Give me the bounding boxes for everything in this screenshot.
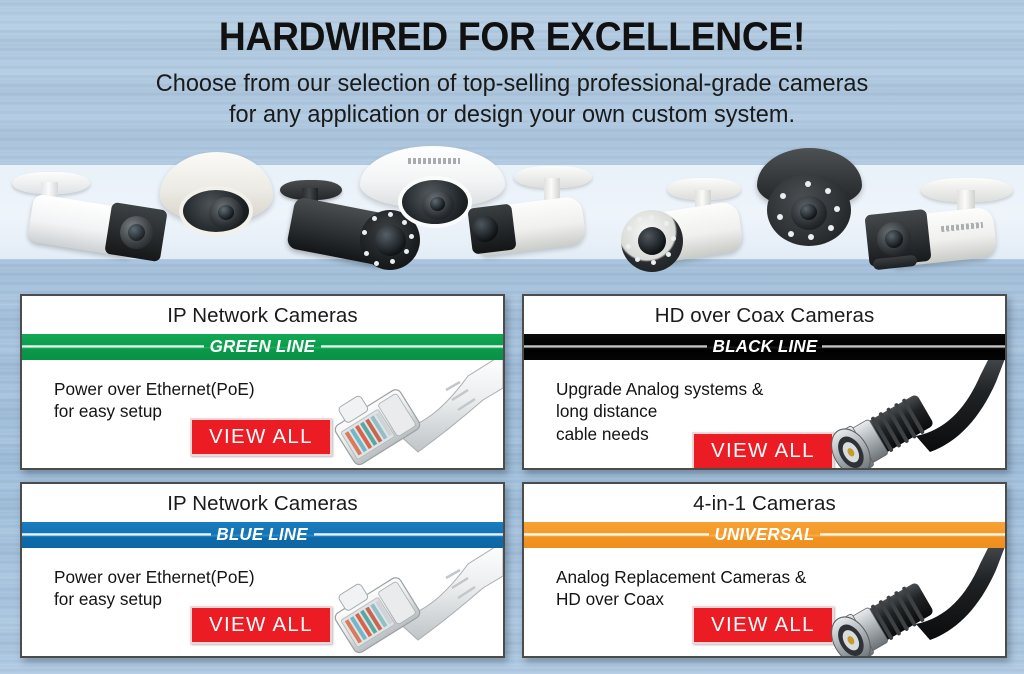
camera-ir-led — [788, 231, 794, 237]
camera-lens-glass — [885, 230, 903, 248]
camera-lens-glass — [800, 204, 817, 220]
card-title: HD over Coax Cameras — [524, 296, 1005, 334]
page-subheadline: Choose from our selection of top-selling… — [20, 58, 1003, 131]
bnc-coax-connector-icon — [820, 548, 1005, 658]
band-label: UNIVERSAL — [711, 524, 819, 545]
camera-ir-led — [780, 193, 786, 199]
camera-ir-led — [626, 244, 631, 249]
band-rule-left — [524, 345, 707, 348]
camera-ir-led — [666, 252, 671, 257]
page-headline: HARDWIRED FOR EXCELLENCE! — [36, 0, 988, 58]
category-card-universal[interactable]: 4-in-1 Cameras UNIVERSAL Analog Replacem… — [522, 482, 1007, 658]
category-card-black-line[interactable]: HD over Coax Cameras BLACK LINE Upgrade … — [522, 294, 1007, 470]
header-banner: HARDWIRED FOR EXCELLENCE! Choose from ou… — [0, 0, 1024, 146]
camera-image-white-dome-camera-1 — [155, 152, 280, 254]
category-card-green-line[interactable]: IP Network Cameras GREEN LINE Power over… — [20, 294, 505, 470]
category-card-blue-line[interactable]: IP Network Cameras BLUE LINE Power over … — [20, 482, 505, 658]
category-card-grid: IP Network Cameras GREEN LINE Power over… — [0, 288, 1024, 674]
camera-ir-led — [664, 221, 669, 226]
camera-image-white-bullet-camera-1 — [8, 154, 173, 272]
subheadline-line-2: for any application or design your own c… — [20, 99, 1003, 130]
band-label: BLACK LINE — [708, 336, 820, 357]
band-label: GREEN LINE — [206, 336, 319, 357]
view-all-button[interactable]: VIEW ALL — [190, 606, 332, 645]
camera-ir-led — [828, 225, 834, 231]
card-title: IP Network Cameras — [22, 484, 503, 522]
rj45-ethernet-connector-icon — [318, 548, 503, 658]
camera-product-strip — [0, 146, 1024, 290]
band-rule-right — [820, 533, 1005, 536]
camera-ir-led — [390, 259, 395, 264]
camera-lens-glass — [430, 197, 445, 211]
band-label: BLUE LINE — [213, 524, 312, 545]
card-body: Analog Replacement Cameras & HD over Coa… — [524, 548, 1005, 658]
rj45-ethernet-connector-icon — [318, 360, 503, 470]
view-all-button[interactable]: VIEW ALL — [692, 606, 834, 645]
camera-ir-led — [777, 214, 783, 220]
card-body: Power over Ethernet(PoE) for easy setup … — [22, 548, 503, 658]
band-rule-right — [314, 533, 503, 536]
band-rule-left — [524, 533, 709, 536]
camera-ir-led — [627, 226, 632, 231]
view-all-button[interactable]: VIEW ALL — [190, 418, 332, 457]
view-all-button[interactable]: VIEW ALL — [692, 432, 834, 470]
card-band-green-line: GREEN LINE — [22, 334, 503, 360]
camera-brand-label — [408, 158, 460, 164]
camera-lens-glass — [218, 205, 234, 220]
card-description: Power over Ethernet(PoE) for easy setup — [54, 566, 255, 612]
band-rule-left — [22, 533, 211, 536]
camera-image-white-bullet-camera-4 — [845, 156, 1020, 280]
camera-ir-led — [825, 188, 831, 194]
camera-image-white-bullet-camera-2 — [470, 156, 620, 268]
band-rule-left — [22, 345, 204, 348]
card-description: Analog Replacement Cameras & HD over Coa… — [556, 566, 806, 612]
card-band-universal: UNIVERSAL — [524, 522, 1005, 548]
card-band-black-line: BLACK LINE — [524, 334, 1005, 360]
card-title: 4-in-1 Cameras — [524, 484, 1005, 522]
card-body: Upgrade Analog systems & long distance c… — [524, 360, 1005, 470]
band-rule-right — [822, 345, 1005, 348]
card-body: Power over Ethernet(PoE) for easy setup … — [22, 360, 503, 470]
card-band-blue-line: BLUE LINE — [22, 522, 503, 548]
camera-ir-led — [635, 257, 640, 262]
bnc-coax-connector-icon — [820, 360, 1005, 470]
camera-ir-led — [805, 181, 811, 187]
camera-lens-glass — [638, 227, 666, 255]
camera-ir-led — [808, 234, 814, 240]
camera-image-white-bullet-camera-3 — [615, 156, 770, 278]
subheadline-line-1: Choose from our selection of top-selling… — [20, 68, 1003, 99]
camera-ir-led — [671, 236, 676, 241]
card-title: IP Network Cameras — [22, 296, 503, 334]
camera-ir-led — [651, 260, 656, 265]
camera-ir-led — [374, 261, 379, 266]
camera-lens-glass — [128, 224, 145, 241]
band-rule-right — [321, 345, 503, 348]
camera-ir-led — [364, 251, 369, 256]
camera-ir-led — [834, 206, 840, 212]
card-description: Power over Ethernet(PoE) for easy setup — [54, 378, 255, 424]
camera-ir-led — [637, 217, 642, 222]
camera-lens-glass — [472, 216, 498, 242]
camera-ir-led — [649, 215, 654, 220]
